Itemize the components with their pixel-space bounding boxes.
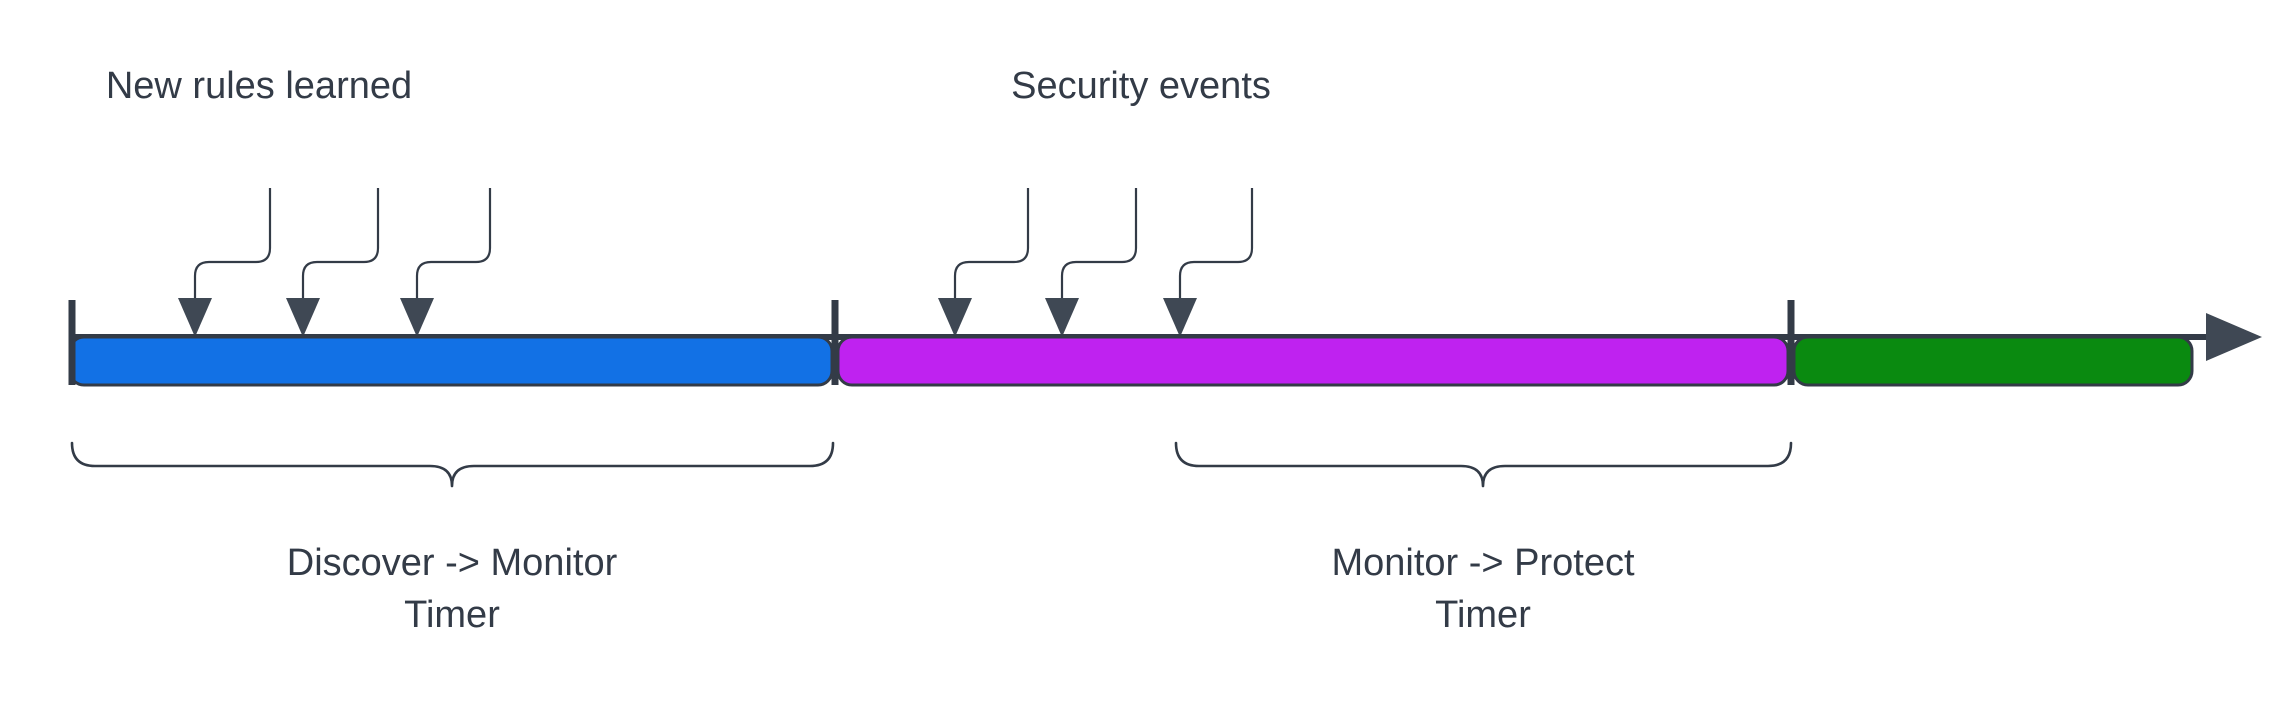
- timeline-diagram: New rules learned Security events: [0, 0, 2278, 718]
- annotation-label-security-events: Security events: [1011, 65, 1271, 107]
- connector-path-new-rules-2: [303, 188, 378, 305]
- annotation-label-new-rules-learned: New rules learned: [106, 65, 412, 107]
- brace-label-discover-monitor-line2: Timer: [404, 594, 500, 636]
- connector-path-new-rules-3: [417, 188, 490, 305]
- event-marker-security-3: [1163, 188, 1252, 337]
- annotation-group-new-rules-learned: New rules learned: [106, 65, 490, 337]
- connector-path-new-rules-1: [195, 188, 270, 305]
- event-marker-new-rules-2: [286, 188, 378, 337]
- arrowhead-new-rules-3: [400, 298, 434, 337]
- connector-path-security-1: [955, 188, 1028, 305]
- arrowhead-security-1: [938, 298, 972, 337]
- arrowhead-security-2: [1045, 298, 1079, 337]
- timeline-segment-protect[interactable]: [1794, 337, 2192, 385]
- timeline-segment-monitor[interactable]: [838, 337, 1788, 385]
- connector-path-security-2: [1062, 188, 1136, 305]
- event-marker-security-1: [938, 188, 1028, 337]
- brace-label-monitor-protect-line2: Timer: [1435, 594, 1531, 636]
- event-marker-new-rules-3: [400, 188, 490, 337]
- event-marker-security-2: [1045, 188, 1136, 337]
- annotation-group-security-events: Security events: [938, 65, 1271, 337]
- brace-group-monitor-protect-timer: Monitor -> Protect Timer: [1176, 443, 1791, 636]
- event-marker-new-rules-1: [178, 188, 270, 337]
- brace-path-monitor-protect: [1176, 443, 1791, 486]
- brace-path-discover-monitor: [72, 443, 833, 486]
- timeline-segment-discover[interactable]: [70, 337, 832, 385]
- arrowhead-new-rules-1: [178, 298, 212, 337]
- connector-path-security-3: [1180, 188, 1252, 305]
- axis-arrowhead-icon: [2206, 313, 2262, 361]
- timeline-segments: [70, 337, 2192, 385]
- arrowhead-security-3: [1163, 298, 1197, 337]
- brace-label-discover-monitor-line1: Discover -> Monitor: [287, 542, 618, 584]
- diagram-canvas: New rules learned Security events: [0, 0, 2278, 718]
- arrowhead-new-rules-2: [286, 298, 320, 337]
- brace-group-discover-monitor-timer: Discover -> Monitor Timer: [72, 443, 833, 636]
- brace-label-monitor-protect-line1: Monitor -> Protect: [1331, 542, 1634, 584]
